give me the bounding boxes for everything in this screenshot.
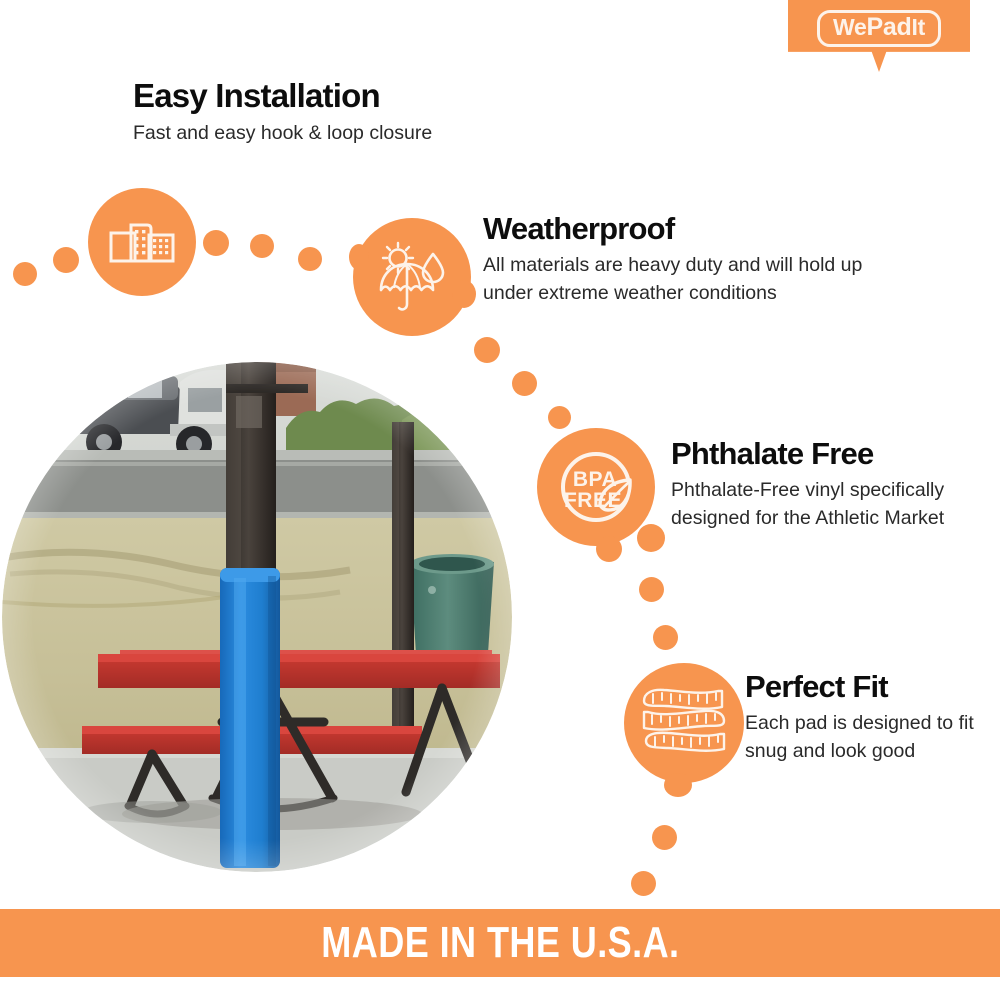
sun-umbrella-raindrop-icon-badge [353,218,471,336]
path-dot [548,406,571,429]
path-dot [250,234,274,258]
brand-logo-pad: Pad [867,13,912,41]
path-dot [13,262,37,286]
infographic-canvas: WePadIt Easy Installation Fast and easy … [0,0,1000,987]
path-dot [653,625,678,650]
badge-blob [664,773,692,797]
building-install-icon-badge [88,188,196,296]
feature-title-perfect-fit: Perfect Fit [745,670,985,704]
made-in-usa-banner: MADE IN THE U.S.A. [0,909,1000,977]
path-dot [512,371,537,396]
path-dot [53,247,79,273]
feature-title-phthalate-free: Phthalate Free [671,437,971,471]
feature-title-easy-installation: Easy Installation [133,78,432,114]
bpa-free-leaf-icon-badge: BPA FREE [537,428,655,546]
path-dot [474,337,500,363]
feature-desc-easy-installation: Fast and easy hook & loop closure [133,120,432,148]
feature-text-weatherproof: Weatherproof All materials are heavy dut… [483,212,913,307]
badge-blob [452,280,476,308]
feature-text-phthalate-free: Phthalate Free Phthalate-Free vinyl spec… [671,437,971,532]
feature-desc-perfect-fit: Each pad is designed to fit snug and loo… [745,710,985,765]
badge-blob [349,244,369,270]
measuring-tape-icon-badge [624,663,744,783]
bpa-icon-line2: FREE [564,489,622,512]
feature-text-easy-installation: Easy Installation Fast and easy hook & l… [133,78,432,148]
path-dot [631,871,656,896]
product-photo [2,362,512,872]
brand-logo-we: We [833,14,867,40]
path-dot [652,825,677,850]
feature-text-perfect-fit: Perfect Fit Each pad is designed to fit … [745,670,985,765]
feature-title-weatherproof: Weatherproof [483,212,913,246]
bpa-free-leaf-icon: BPA FREE [548,439,644,535]
building-install-icon [109,213,175,271]
path-dot [596,536,622,562]
feature-desc-weatherproof: All materials are heavy duty and will ho… [483,252,913,307]
bpa-icon-line1: BPA [573,468,617,491]
feature-desc-phthalate-free: Phthalate-Free vinyl specifically design… [671,477,971,532]
sun-umbrella-raindrop-icon [373,238,451,316]
brand-logo: WePadIt [817,10,941,47]
made-in-usa-label: MADE IN THE U.S.A. [321,918,679,968]
brand-logo-it: It [912,14,925,40]
brand-banner: WePadIt [788,0,970,72]
measuring-tape-icon [638,681,730,765]
product-photo-illustration [2,362,512,872]
path-dot [298,247,322,271]
path-dot [203,230,229,256]
path-dot [639,577,664,602]
